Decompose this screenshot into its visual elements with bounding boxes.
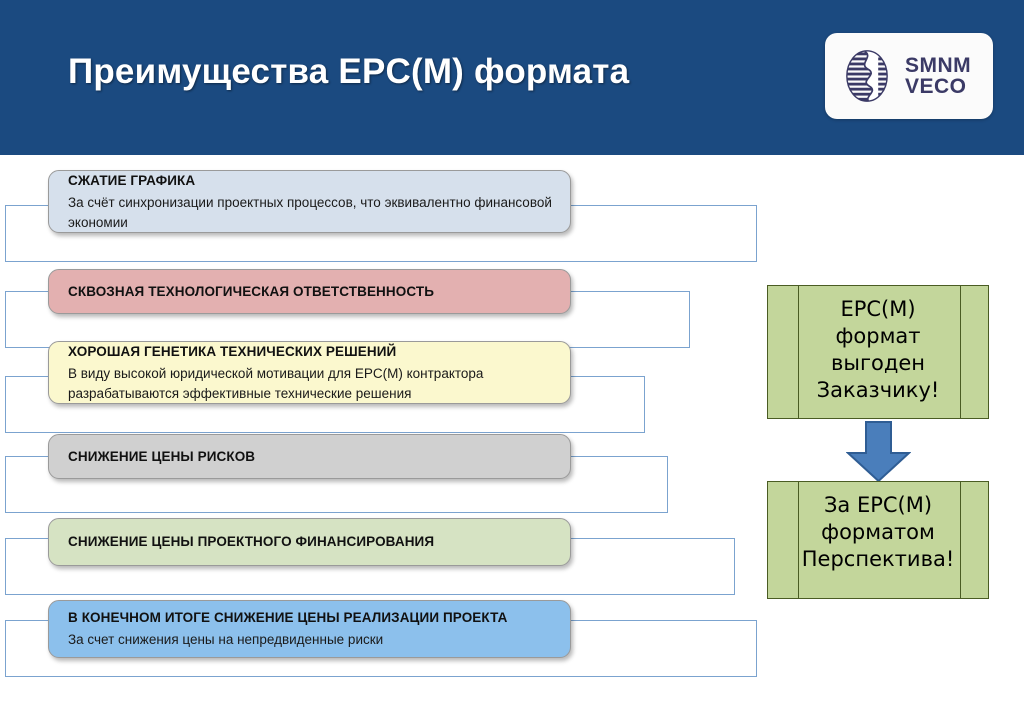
- advantage-card-1[interactable]: СЖАТИЕ ГРАФИКА За счёт синхронизации про…: [48, 170, 571, 233]
- advantage-card-2[interactable]: СКВОЗНАЯ ТЕХНОЛОГИЧЕСКАЯ ОТВЕТСТВЕННОСТЬ: [48, 269, 571, 314]
- advantage-card-5[interactable]: СНИЖЕНИЕ ЦЕНЫ ПРОЕКТНОГО ФИНАНСИРОВАНИЯ: [48, 518, 571, 566]
- striped-globe-icon: [839, 48, 895, 104]
- conclusion-top-text: EPC(M) формат выгоден Заказчику!: [768, 296, 988, 404]
- arrow-down-icon: [846, 421, 911, 483]
- advantage-title: СНИЖЕНИЕ ЦЕНЫ РИСКОВ: [68, 447, 570, 467]
- advantage-title: СЖАТИЕ ГРАФИКА: [68, 171, 570, 191]
- company-logo: SMNM VECO: [825, 33, 993, 119]
- conclusion-panel-bottom: За EPC(M) форматом Перспектива!: [767, 481, 989, 599]
- slide-header: Преимущества EPC(M) формата: [0, 0, 1024, 155]
- slide-root: Преимущества EPC(M) формата: [0, 0, 1024, 708]
- advantage-title: ХОРОШАЯ ГЕНЕТИКА ТЕХНИЧЕСКИХ РЕШЕНИЙ: [68, 342, 570, 362]
- logo-wordmark: SMNM VECO: [905, 55, 971, 97]
- advantage-card-6[interactable]: В КОНЕЧНОМ ИТОГЕ СНИЖЕНИЕ ЦЕНЫ РЕАЛИЗАЦИ…: [48, 600, 571, 658]
- down-arrow: [846, 421, 911, 483]
- conclusion-bottom-text: За EPC(M) форматом Перспектива!: [768, 492, 988, 573]
- page-title: Преимущества EPC(M) формата: [68, 52, 629, 92]
- logo-line-2: VECO: [905, 76, 971, 97]
- advantage-body: За счёт синхронизации проектных процессо…: [68, 193, 570, 233]
- advantage-title: В КОНЕЧНОМ ИТОГЕ СНИЖЕНИЕ ЦЕНЫ РЕАЛИЗАЦИ…: [68, 608, 570, 628]
- advantage-body: В виду высокой юридической мотивации для…: [68, 364, 570, 404]
- advantage-card-4[interactable]: СНИЖЕНИЕ ЦЕНЫ РИСКОВ: [48, 434, 571, 479]
- logo-line-1: SMNM: [905, 55, 971, 76]
- advantage-body: За счет снижения цены на непредвиденные …: [68, 630, 570, 650]
- advantage-title: СНИЖЕНИЕ ЦЕНЫ ПРОЕКТНОГО ФИНАНСИРОВАНИЯ: [68, 532, 570, 552]
- advantage-title: СКВОЗНАЯ ТЕХНОЛОГИЧЕСКАЯ ОТВЕТСТВЕННОСТЬ: [68, 282, 570, 302]
- advantage-card-3[interactable]: ХОРОШАЯ ГЕНЕТИКА ТЕХНИЧЕСКИХ РЕШЕНИЙ В в…: [48, 341, 571, 404]
- conclusion-panel-top: EPC(M) формат выгоден Заказчику!: [767, 285, 989, 419]
